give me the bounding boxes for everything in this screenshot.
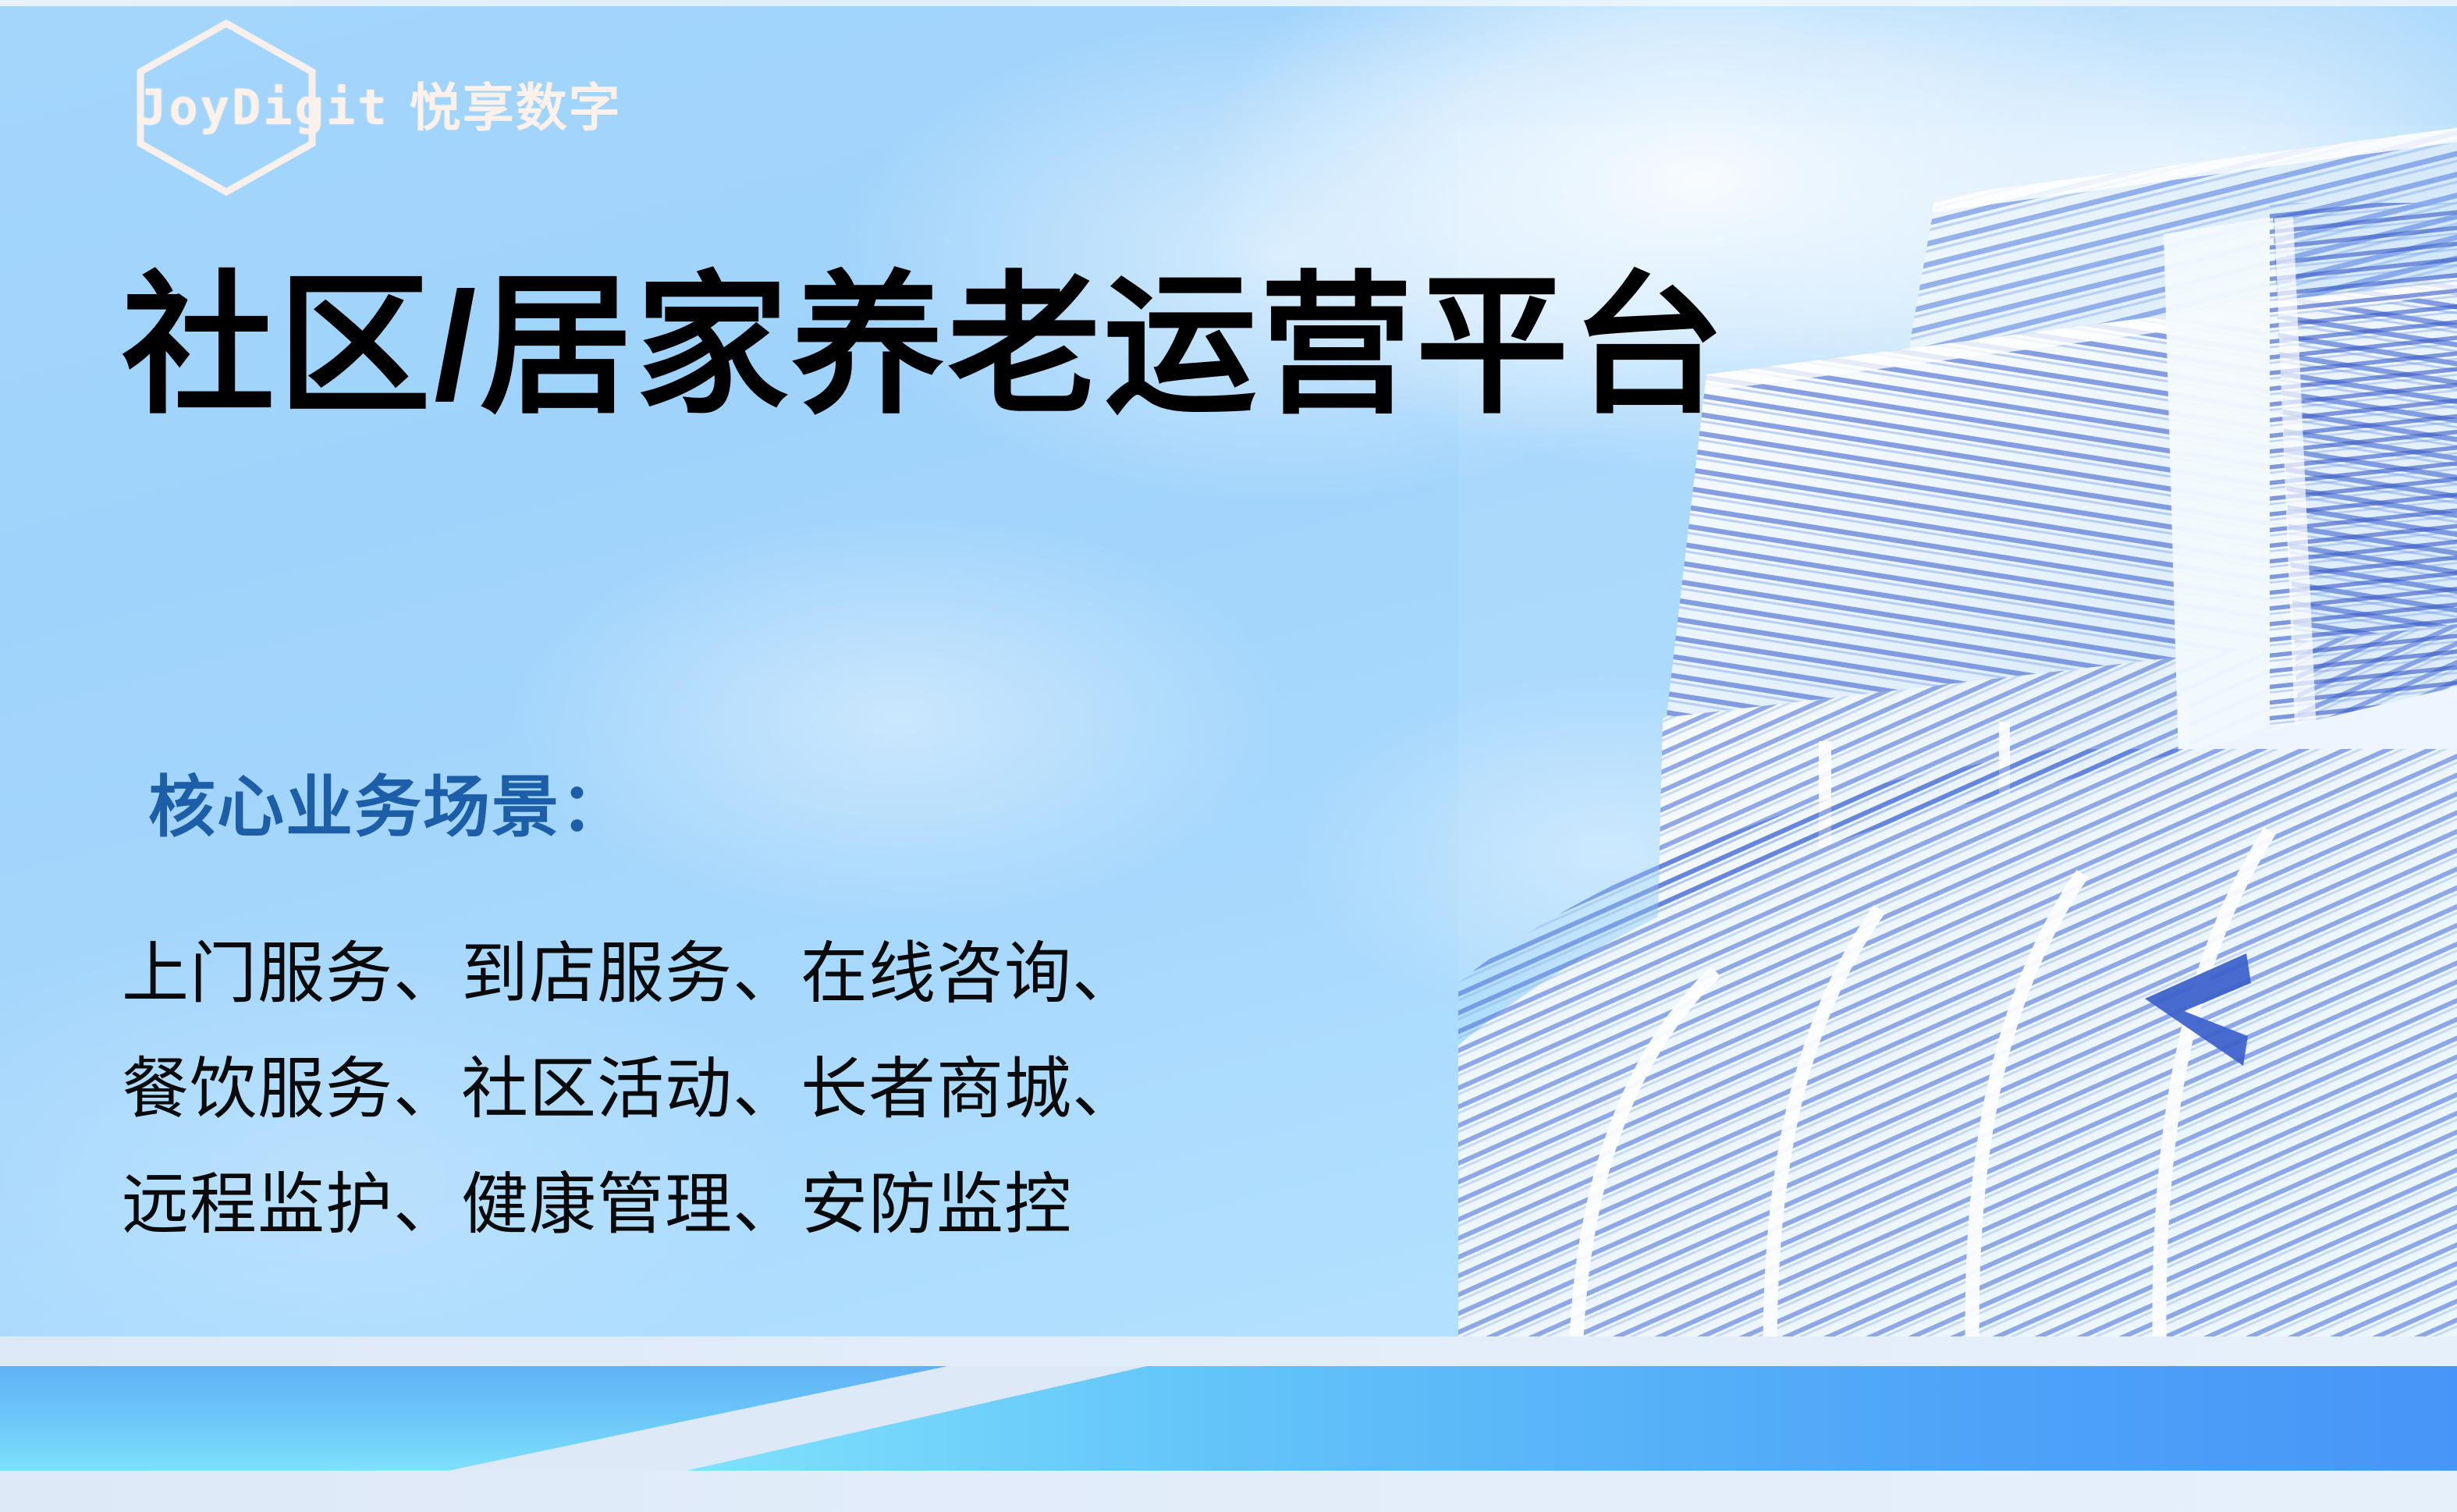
logo-name-cn: 悦享数字 [410,82,622,133]
scenario-line: 上门服务、到店服务、在线咨询、 [122,917,1140,1032]
scenario-line: 餐饮服务、社区活动、长者商城、 [122,1032,1140,1148]
section-label-core-scenarios: 核心业务场景： [148,771,629,845]
top-edge-strip [0,0,2457,6]
page-title: 社区/居家养老运营平台 [122,262,1727,431]
brand-logo[interactable]: JoyDigit 悦享数字 [137,61,622,154]
scenario-list: 上门服务、到店服务、在线咨询、 餐饮服务、社区活动、长者商城、 远程监护、健康管… [122,917,1140,1263]
scenario-line: 远程监护、健康管理、安防监控 [122,1148,1140,1263]
logo-wordmark: JoyDigit [137,83,389,132]
slide-root: JoyDigit 悦享数字 社区/居家养老运营平台 核心业务场景： 上门服务、到… [0,0,2457,1512]
bottom-decorative-band [0,1336,2457,1512]
